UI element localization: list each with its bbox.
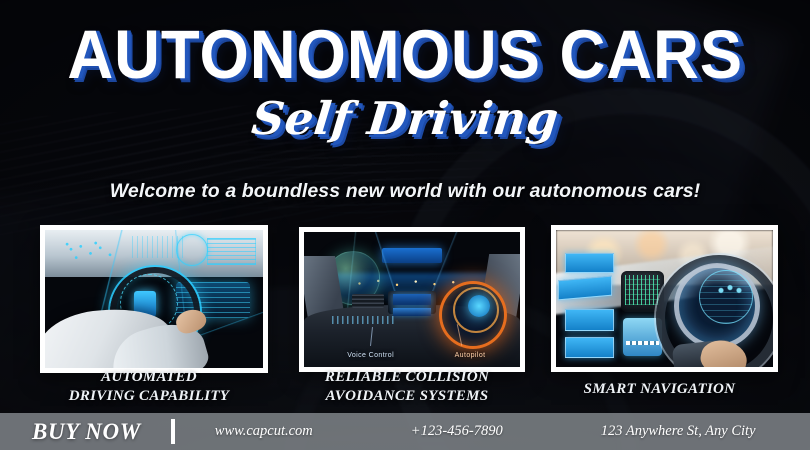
photo2-air-vents [352,294,384,308]
photo2-hud-bar [332,316,397,324]
photo2-label-voice-control: Voice Control [347,352,394,359]
photo3-console-keypad [626,341,659,345]
feature-card-automated-driving[interactable] [40,225,268,373]
photo3-console-graph-display [625,275,660,305]
caption-smart-navigation: SMART NAVIGATION [551,380,768,399]
feature-card-smart-navigation[interactable] [551,225,778,372]
footer-phone-number[interactable]: +123-456-7890 [411,423,503,440]
photo3-cluster-gauge-icons [715,282,745,296]
photo3-instrument-cluster-inner [699,270,753,324]
footer-divider [171,419,175,444]
footer-bar: BUY NOW www.capcut.com +123-456-7890 123… [0,413,810,450]
tagline-container: Welcome to a boundless new world with ou… [0,180,810,203]
buy-now-button[interactable]: BUY NOW [32,419,141,445]
photo3-hud-screen-1 [565,253,615,273]
footer-website-link[interactable]: www.capcut.com [215,423,313,440]
caption-automated-driving: AUTOMATED DRIVING CAPABILITY [40,368,258,406]
caption-2-line-1: RELIABLE COLLISION [299,368,515,387]
page-title: AUTONOMOUS CARS [67,22,743,88]
caption-1-line-1: AUTOMATED [40,368,258,387]
feature-image-1 [45,230,263,368]
caption-3-line-1: SMART NAVIGATION [551,380,768,399]
subtitle-container: Self Driving [0,96,810,141]
caption-collision-avoidance: RELIABLE COLLISION AVOIDANCE SYSTEMS [299,368,515,406]
script-subtitle: Self Driving [249,96,560,141]
feature-cards: Voice Control Autopilot [0,223,810,368]
feature-card-collision-avoidance[interactable]: Voice Control Autopilot [299,227,525,372]
photo3-hud-screen-4 [565,337,615,358]
poster-canvas: AUTONOMOUS CARS Self Driving Welcome to … [0,0,810,450]
photo2-label-autopilot: Autopilot [455,352,486,359]
feature-image-2: Voice Control Autopilot [304,232,520,367]
caption-2-line-2: AVOIDANCE SYSTEMS [299,387,515,406]
tagline-text: Welcome to a boundless new world with ou… [110,180,701,203]
feature-image-3 [556,230,773,367]
caption-1-line-2: DRIVING CAPABILITY [40,387,258,406]
photo2-center-screen-upper [393,294,432,305]
headline-container: AUTONOMOUS CARS [0,22,810,88]
photo3-hud-screen-3 [565,309,615,330]
photo2-center-screen-lower [393,308,432,316]
footer-address: 123 Anywhere St, Any City [601,423,756,440]
feature-captions: AUTOMATED DRIVING CAPABILITY RELIABLE CO… [0,368,810,412]
